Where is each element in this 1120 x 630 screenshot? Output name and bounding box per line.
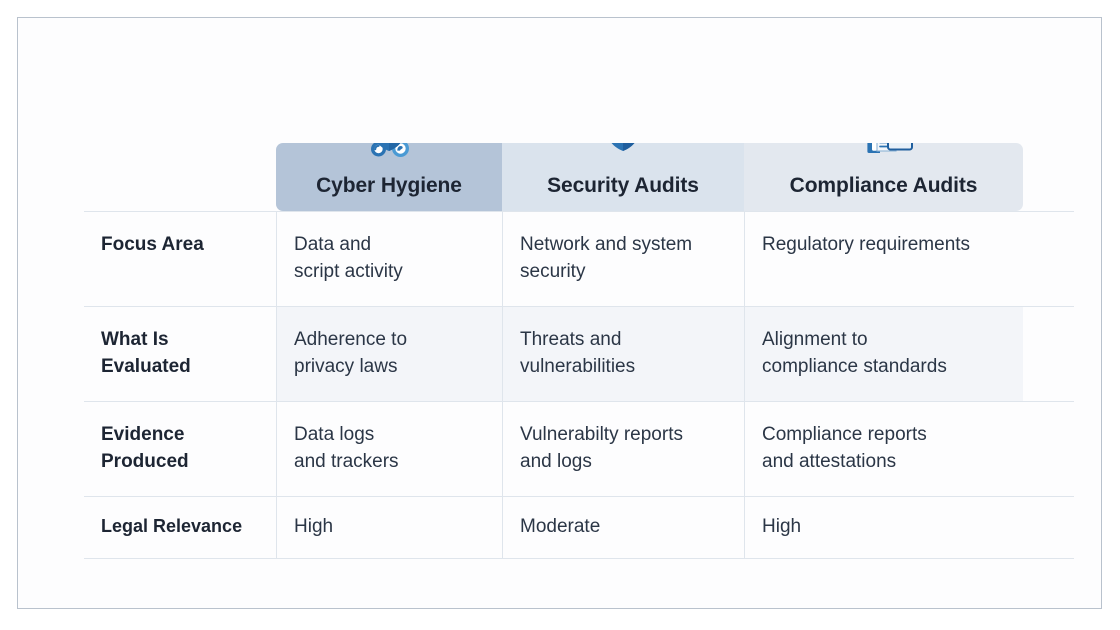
shield-check-icon [358,143,420,161]
cell-line2: and logs [520,449,744,476]
row-label: Focus Area [84,212,276,306]
table-body: Focus Area Data and script activity Netw… [84,211,1074,559]
cell-line2: script activity [294,259,502,286]
page-frame: Cyber Hygiene Security Audits [17,17,1102,609]
row-label-line1: Focus Area [101,234,204,255]
row-label-line2: Produced [101,449,276,476]
row-label-line1: What Is [101,329,169,350]
row-label-line1: Legal Relevance [101,516,242,536]
shield-lock-icon [592,143,654,161]
table-cell: Alignment to compliance standards [744,307,1023,401]
cell-line1: High [762,516,801,537]
row-label: Legal Relevance [84,497,276,558]
cell-line1: Threats and [520,329,621,350]
table-row: Evidence Produced Data logs and trackers… [84,401,1074,496]
table-cell: Vulnerabilty reports and logs [502,402,744,496]
cell-line1: Data and [294,234,371,255]
row-label-line2: Evaluated [101,354,276,381]
cell-line1: Compliance reports [762,424,927,445]
cell-line1: Network and system [520,234,692,255]
table-row: Focus Area Data and script activity Netw… [84,211,1074,306]
cell-line1: Adherence to [294,329,407,350]
table-cell: Data and script activity [276,212,502,306]
cell-line2: security [520,259,744,286]
table-cell: Threats and vulnerabilities [502,307,744,401]
table-cell: Network and system security [502,212,744,306]
row-label: Evidence Produced [84,402,276,496]
table-cell: Adherence to privacy laws [276,307,502,401]
cell-line1: Vulnerabilty reports [520,424,683,445]
table-cell: High [744,497,1023,558]
column-header-compliance-audits: Compliance Audits [744,143,1023,211]
table-cell: Compliance reports and attestations [744,402,1023,496]
table-row: Legal Relevance High Moderate High [84,496,1074,559]
table-cell: High [276,497,502,558]
column-header-security-audits: Security Audits [502,143,744,211]
table-cell: Regulatory requirements [744,212,1023,306]
table-header-row: Cyber Hygiene Security Audits [276,143,1023,211]
table-cell: Data logs and trackers [276,402,502,496]
table-row: What Is Evaluated Adherence to privacy l… [84,306,1074,401]
cell-line2: privacy laws [294,354,502,381]
column-header-label: Security Audits [547,174,699,198]
cell-line2: compliance standards [762,354,1023,381]
cell-line1: High [294,516,333,537]
cell-line1: Regulatory requirements [762,234,970,255]
cell-line1: Data logs [294,424,374,445]
row-label: What Is Evaluated [84,307,276,401]
table-cell: Moderate [502,497,744,558]
cell-line1: Moderate [520,516,600,537]
column-header-label: Compliance Audits [790,174,978,198]
clipboard-checklist-icon [853,143,915,161]
comparison-table: Cyber Hygiene Security Audits [84,125,1074,587]
cell-line2: and trackers [294,449,502,476]
cell-line1: Alignment to [762,329,868,350]
column-header-cyber-hygiene: Cyber Hygiene [276,143,502,211]
cell-line2: and attestations [762,449,1023,476]
row-label-line1: Evidence [101,424,184,445]
column-header-label: Cyber Hygiene [316,174,462,198]
cell-line2: vulnerabilities [520,354,744,381]
